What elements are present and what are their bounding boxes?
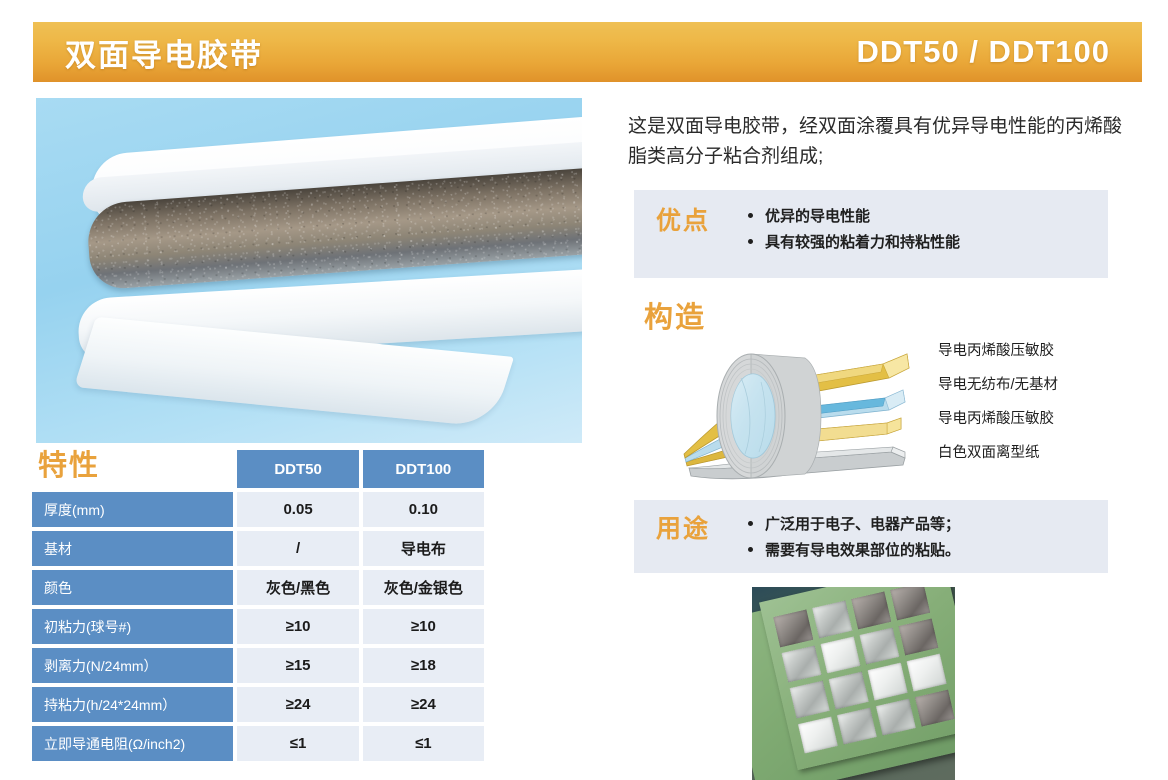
page-header: 双面导电胶带 DDT50 / DDT100	[33, 22, 1142, 82]
pcb-pad	[790, 681, 830, 718]
pcb-pad	[781, 645, 821, 682]
pcb-pad	[837, 707, 877, 744]
row-value-ddt50: ≥10	[237, 609, 358, 644]
table-row: 持粘力(h/24*24mm） ≥24 ≥24	[32, 687, 484, 722]
usage-list: 广泛用于电子、电器产品等； 需要有导电效果部位的粘贴。	[748, 512, 960, 564]
table-row: 剥离力(N/24mm） ≥15 ≥18	[32, 648, 484, 683]
pcb-pad	[829, 672, 869, 709]
advantages-box: 优点 优异的导电性能 具有较强的粘着力和持粘性能	[634, 190, 1108, 278]
list-item: 广泛用于电子、电器产品等；	[748, 512, 960, 538]
tape-cross-section-illustration	[655, 328, 945, 493]
spec-table-section: 特性 DDT50 DDT100 厚度(mm) 0.05 0.10 基材 / 导电…	[28, 446, 488, 765]
list-item: 需要有导电效果部位的粘贴。	[748, 538, 960, 564]
pcb-pad	[890, 587, 930, 620]
row-value-ddt50: ≥24	[237, 687, 358, 722]
table-row: 颜色 灰色/黑色 灰色/金银色	[32, 570, 484, 605]
list-item: 具有较强的粘着力和持粘性能	[748, 230, 960, 256]
page-title: 双面导电胶带	[65, 30, 263, 75]
structure-diagram	[655, 328, 945, 493]
table-row: 厚度(mm) 0.05 0.10	[32, 492, 484, 527]
row-value-ddt100: 灰色/金银色	[363, 570, 484, 605]
row-label: 剥离力(N/24mm）	[32, 648, 233, 683]
row-value-ddt100: ≥24	[363, 687, 484, 722]
product-model-code: DDT50 / DDT100	[857, 34, 1110, 70]
row-value-ddt100: 0.10	[363, 492, 484, 527]
structure-layer-labels: 导电丙烯酸压敏胶 导电无纺布/无基材 导电丙烯酸压敏胶 白色双面离型纸	[938, 341, 1148, 477]
table-row: 初粘力(球号#) ≥10 ≥10	[32, 609, 484, 644]
row-value-ddt50: 0.05	[237, 492, 358, 527]
row-value-ddt50: ≤1	[237, 726, 358, 761]
pcb-pad	[773, 609, 813, 646]
row-value-ddt50: 灰色/黑色	[237, 570, 358, 605]
pcb-pad	[798, 716, 838, 753]
row-value-ddt100: ≤1	[363, 726, 484, 761]
table-row: 基材 / 导电布	[32, 531, 484, 566]
row-value-ddt100: 导电布	[363, 531, 484, 566]
pcb-pad	[812, 600, 852, 637]
row-label: 立即导通电阻(Ω/inch2)	[32, 726, 233, 761]
spec-table-title: 特性	[38, 442, 100, 484]
spec-table: DDT50 DDT100 厚度(mm) 0.05 0.10 基材 / 导电布 颜…	[28, 446, 488, 765]
structure-label-layer-3: 导电丙烯酸压敏胶	[938, 409, 1148, 443]
pcb-pad	[915, 689, 955, 726]
row-label: 颜色	[32, 570, 233, 605]
row-label: 厚度(mm)	[32, 492, 233, 527]
pcb-pad	[851, 591, 891, 628]
pcb-pad	[859, 627, 899, 664]
application-photo	[752, 587, 955, 780]
row-value-ddt50: ≥15	[237, 648, 358, 683]
product-photo	[36, 98, 582, 443]
row-value-ddt50: /	[237, 531, 358, 566]
pcb-pad	[898, 618, 938, 655]
advantages-keyword: 优点	[656, 204, 748, 236]
header-cell-ddt50: DDT50	[237, 450, 358, 488]
row-label: 初粘力(球号#)	[32, 609, 233, 644]
pcb-pad	[876, 698, 916, 735]
usage-box: 用途 广泛用于电子、电器产品等； 需要有导电效果部位的粘贴。	[634, 500, 1108, 573]
usage-keyword: 用途	[656, 512, 748, 544]
pcb-pad	[820, 636, 860, 673]
advantages-list: 优异的导电性能 具有较强的粘着力和持粘性能	[748, 204, 960, 256]
row-label: 持粘力(h/24*24mm）	[32, 687, 233, 722]
row-label: 基材	[32, 531, 233, 566]
header-cell-ddt100: DDT100	[363, 450, 484, 488]
row-value-ddt100: ≥18	[363, 648, 484, 683]
table-row: 立即导通电阻(Ω/inch2) ≤1 ≤1	[32, 726, 484, 761]
list-item: 优异的导电性能	[748, 204, 960, 230]
product-description: 这是双面导电胶带，经双面涂覆具有优异导电性能的丙烯酸脂类高分子粘合剂组成;	[628, 112, 1128, 172]
structure-label-layer-1: 导电丙烯酸压敏胶	[938, 341, 1148, 375]
row-value-ddt100: ≥10	[363, 609, 484, 644]
pcb-pad	[907, 654, 947, 691]
structure-label-layer-2: 导电无纺布/无基材	[938, 375, 1148, 409]
pcb-pad	[868, 663, 908, 700]
structure-label-layer-4: 白色双面离型纸	[938, 443, 1148, 477]
